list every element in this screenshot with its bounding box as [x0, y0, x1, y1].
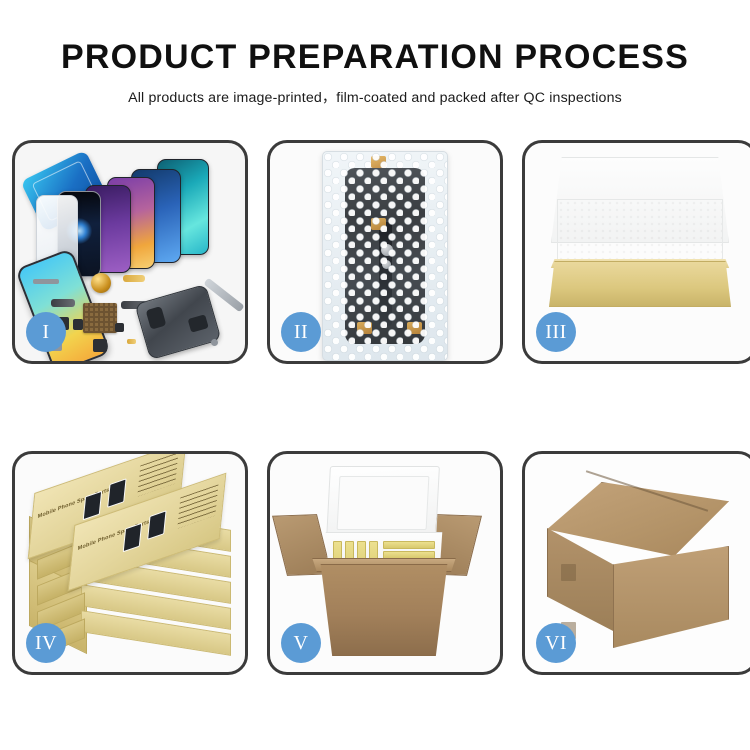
- page-title: PRODUCT PREPARATION PROCESS: [0, 40, 750, 76]
- lid-window-back-2: [107, 478, 126, 508]
- carton-side-face-icon: [613, 546, 729, 648]
- lid-spec-lines-front: [177, 484, 218, 528]
- step-badge-4: IV: [26, 623, 66, 663]
- bubble-bag-icon: [322, 151, 448, 361]
- carton-tab-upper-icon: [561, 564, 576, 581]
- process-step-panel-4[interactable]: Mobile Phone Spare Parts Mobile Phone Sp…: [12, 451, 248, 675]
- carton-body-icon: [312, 564, 456, 656]
- process-step-panel-5[interactable]: V: [267, 451, 503, 675]
- bubble-texture: [323, 152, 447, 360]
- process-step-panel-3[interactable]: III: [522, 140, 750, 364]
- header: PRODUCT PREPARATION PROCESS All products…: [0, 40, 750, 107]
- step-badge-5: V: [281, 623, 321, 663]
- part-bracket-icon: [33, 279, 59, 284]
- foam-lid-icon: [326, 466, 440, 540]
- process-step-panel-2[interactable]: II: [267, 140, 503, 364]
- process-step-panel-1[interactable]: I: [12, 140, 248, 364]
- lid-window-front-1: [123, 523, 142, 553]
- step-badge-3: III: [536, 312, 576, 352]
- yellow-box-tray-icon: [549, 261, 731, 307]
- inner-box-5: [383, 541, 435, 549]
- part-button-icon: [73, 319, 83, 330]
- process-step-grid: I II: [12, 140, 738, 675]
- process-step-panel-6[interactable]: VI: [522, 451, 750, 675]
- chip-grid-icon: [83, 303, 117, 333]
- product-preparation-infographic: PRODUCT PREPARATION PROCESS All products…: [0, 0, 750, 750]
- page-subtitle: All products are image-printed，film-coat…: [0, 87, 750, 107]
- lid-window-front-2: [147, 510, 166, 540]
- part-screw-plate-icon: [115, 323, 124, 332]
- step-badge-1: I: [26, 312, 66, 352]
- phone-back-housing-icon: [134, 284, 221, 360]
- part-gold-flex-icon: [123, 275, 145, 282]
- carton-front-face-icon: [547, 528, 615, 632]
- step-badge-2: II: [281, 312, 321, 352]
- inner-box-6: [383, 551, 435, 559]
- part-flex-cable-icon: [51, 299, 75, 307]
- part-contact-icon: [127, 339, 136, 344]
- step-badge-6: VI: [536, 623, 576, 663]
- speaker-coil-icon: [91, 273, 111, 293]
- part-vibrator-icon: [93, 339, 107, 352]
- part-screw-icon: [211, 339, 218, 346]
